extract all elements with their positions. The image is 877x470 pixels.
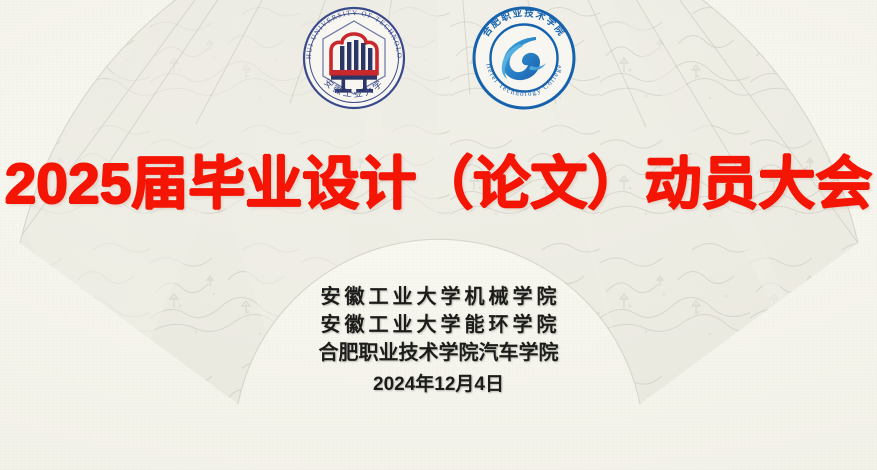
subtitle-line-3: 合肥职业技术学院汽车学院 (0, 339, 877, 367)
subtitle-line-2: 安徽工业大学能环学院 (0, 311, 877, 339)
ahut-seal-icon: ANHUI UNIVERSITY OF TECHNOLOGY 安徽工业大学 (300, 4, 408, 112)
presentation-slide: ANHUI UNIVERSITY OF TECHNOLOGY 安徽工业大学 (0, 0, 877, 470)
subtitle-date: 2024年12月4日 (0, 371, 877, 399)
logo-hefei-technology-college: 合肥职业技术学院 Hefei Technology College (470, 4, 578, 112)
subtitle-block: 安徽工业大学机械学院 安徽工业大学能环学院 合肥职业技术学院汽车学院 2024年… (0, 283, 877, 399)
subtitle-line-1: 安徽工业大学机械学院 (0, 283, 877, 311)
logo-anhui-university-of-technology: ANHUI UNIVERSITY OF TECHNOLOGY 安徽工业大学 (300, 4, 408, 112)
logo-row: ANHUI UNIVERSITY OF TECHNOLOGY 安徽工业大学 (0, 4, 877, 116)
hefei-college-seal-icon: 合肥职业技术学院 Hefei Technology College (470, 4, 578, 112)
slide-title: 2025届毕业设计（论文）动员大会 (0, 155, 877, 214)
